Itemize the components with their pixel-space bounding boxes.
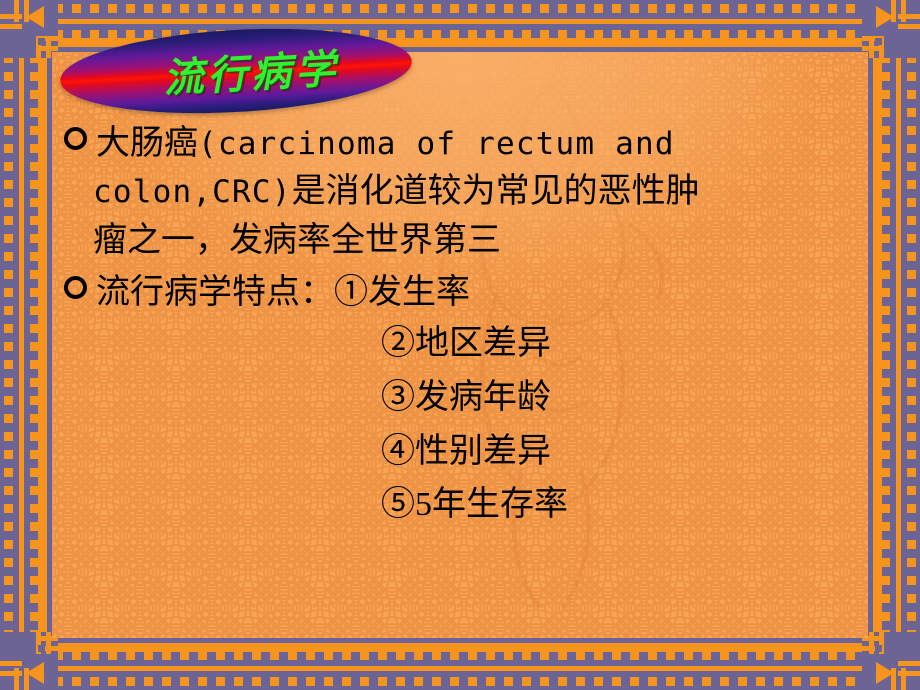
bullet-1-line-3: 瘤之一，发病率全世界第三	[64, 217, 864, 265]
frame-rule-top	[0, 19, 920, 24]
sub-item-5: ⑤5年生存率	[64, 478, 864, 532]
title-text: 流行病学	[58, 20, 414, 122]
frame-rule-left	[19, 0, 24, 690]
bullet-item-1: 大肠癌 (carcinoma of rectum and	[64, 120, 864, 168]
frame-rule-bottom	[0, 666, 920, 671]
bullet-item-2: 流行病学特点：①发生率	[64, 269, 864, 317]
ring-bullet-icon	[64, 276, 87, 299]
sub-item-3: ③发病年龄	[64, 371, 864, 425]
bullet-2-line-1-zh: 流行病学特点：①发生率	[96, 269, 470, 317]
slide-title: 流行病学	[60, 30, 412, 112]
sub-item-2: ②地区差异	[64, 317, 864, 371]
frame-teeth-bottom-outer	[0, 677, 920, 686]
slide-canvas: 流行病学 大肠癌 (carcinoma of rectum and colon,…	[0, 0, 920, 690]
bullet-1-line-1-latin: (carcinoma of rectum and	[198, 122, 675, 166]
bullet-1-line-2: colon,CRC) 是消化道较为常见的恶性肿	[64, 168, 864, 216]
corner-ornament-top-left-icon	[0, 0, 58, 58]
frame-teeth-right-outer	[907, 0, 916, 690]
bullet-1-line-1-zh: 大肠癌	[96, 120, 198, 168]
bullet-1-line-3-zh: 瘤之一，发病率全世界第三	[93, 217, 501, 265]
ring-bullet-icon	[64, 127, 87, 150]
frame-teeth-bottom-inner	[0, 651, 920, 660]
slide-body: 大肠癌 (carcinoma of rectum and colon,CRC) …	[64, 120, 864, 532]
frame-teeth-right-inner	[881, 0, 890, 690]
corner-ornament-top-right-icon	[862, 0, 920, 58]
bullet-1-line-2-zh: 是消化道较为常见的恶性肿	[292, 168, 700, 216]
corner-ornament-bottom-left-icon	[0, 632, 58, 690]
sub-item-4: ④性别差异	[64, 425, 864, 479]
frame-rule-right	[896, 0, 901, 690]
corner-ornament-bottom-right-icon	[862, 632, 920, 690]
frame-teeth-top-outer	[0, 4, 920, 13]
bullet-1-line-2-latin: colon,CRC)	[93, 170, 292, 214]
frame-teeth-left-outer	[4, 0, 13, 690]
